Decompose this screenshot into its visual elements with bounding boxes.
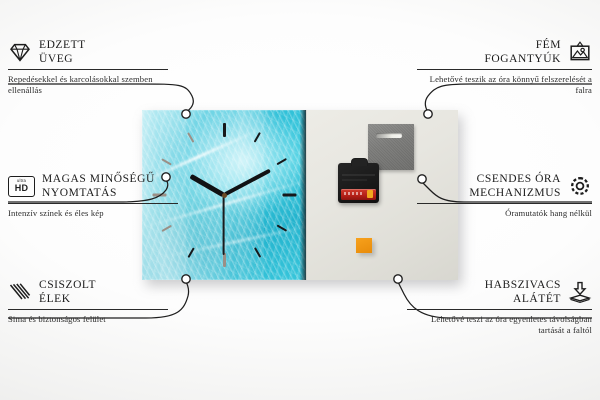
battery — [341, 189, 376, 200]
feature-metal-handles[interactable]: Fém Fogantyúk Lehetővé teszik az óra kön… — [417, 38, 592, 97]
feature-description: Óramutatók hang nélkül — [417, 208, 592, 219]
feature-silent-mechanism[interactable]: Csendes óra Mechanizmus Óramutatók hang … — [417, 172, 592, 219]
feature-header: Csiszolt Élek — [8, 278, 168, 306]
gear-icon — [568, 174, 592, 198]
divider — [417, 203, 592, 204]
mechanism-ridge — [342, 179, 367, 181]
feature-header: Fém Fogantyúk — [417, 38, 592, 66]
feature-header: Edzett Üveg — [8, 38, 168, 66]
product-image — [142, 110, 458, 280]
feature-high-quality-print[interactable]: ultra HD Magas minőségű Nyomtatás Intenz… — [8, 172, 178, 219]
mechanism-lug — [351, 158, 368, 166]
feature-polished-edges[interactable]: Csiszolt Élek Sima és biztonságos felüle… — [8, 278, 168, 325]
feature-title: Habszivacs Alátét — [485, 278, 561, 306]
feature-title: Csendes óra Mechanizmus — [469, 172, 561, 200]
polished-edges-icon — [8, 280, 32, 304]
feature-description: Repedésekkel és karcolásokkal szemben el… — [8, 74, 168, 97]
clock-center-pin — [222, 193, 227, 198]
feature-title: Edzett Üveg — [39, 38, 86, 66]
press-pad-icon — [568, 280, 592, 304]
divider — [8, 69, 168, 70]
divider — [8, 309, 168, 310]
feature-tempered-glass[interactable]: Edzett Üveg Repedésekkel és karcolásokka… — [8, 38, 168, 97]
feature-title: Fém Fogantyúk — [484, 38, 561, 66]
picture-hanger-icon — [568, 40, 592, 64]
feature-description: Lehetővé teszik az óra könnyű felszerelé… — [417, 74, 592, 97]
mechanism-ridge — [342, 174, 375, 176]
feature-header: Csendes óra Mechanizmus — [417, 172, 592, 200]
infographic-stage: Edzett Üveg Repedésekkel és karcolásokka… — [0, 0, 600, 400]
clock-mechanism — [338, 163, 379, 203]
feature-description: Intenzív színek és éles kép — [8, 208, 178, 219]
foam-spacer-pad — [356, 238, 372, 253]
feature-header: Habszivacs Alátét — [407, 278, 592, 306]
battery-terminal — [367, 190, 373, 198]
feature-foam-pad[interactable]: Habszivacs Alátét Lehetővé teszi az óra … — [407, 278, 592, 337]
feature-description: Sima és biztonságos felület — [8, 314, 168, 325]
divider — [417, 69, 592, 70]
feature-header: ultra HD Magas minőségű Nyomtatás — [8, 172, 178, 200]
feature-title: Csiszolt Élek — [39, 278, 96, 306]
diamond-icon — [8, 40, 32, 64]
divider — [407, 309, 592, 310]
hanger-slot — [376, 133, 402, 138]
second-hand — [223, 195, 225, 255]
divider — [8, 203, 178, 204]
feature-title: Magas minőségű Nyomtatás — [42, 172, 155, 200]
ultra-hd-icon: ultra HD — [8, 176, 35, 197]
battery-label — [344, 192, 364, 195]
ultra-hd-big-label: HD — [15, 184, 29, 193]
feature-description: Lehetővé teszi az óra egyenletes távolsá… — [407, 314, 592, 337]
